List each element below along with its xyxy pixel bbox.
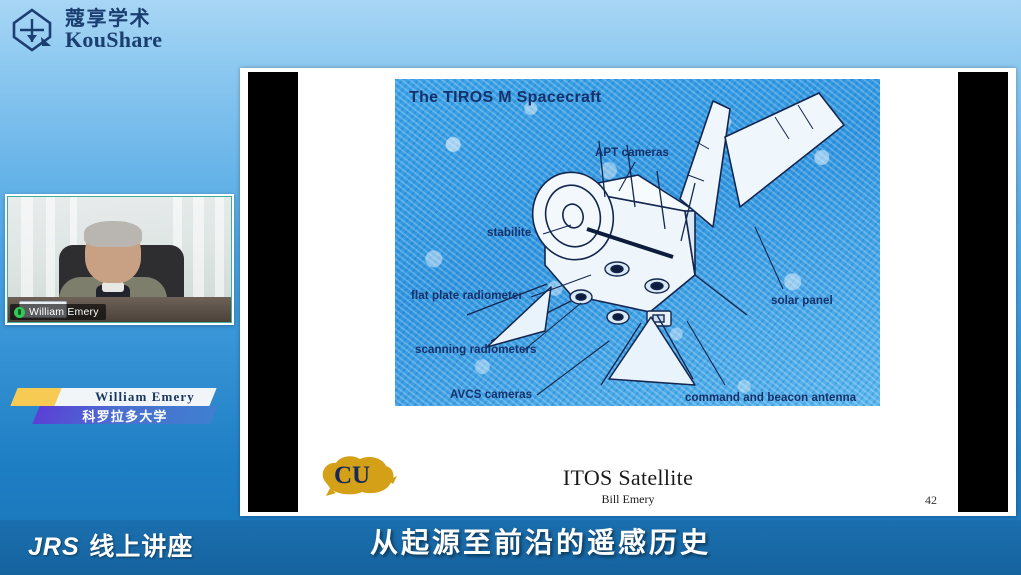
- speaker-affiliation-text: 科罗拉多大学: [36, 406, 214, 424]
- participant-name-label: William Emery: [10, 304, 106, 320]
- slide-page-number: 42: [925, 493, 937, 508]
- video-tile[interactable]: William Emery: [5, 194, 234, 325]
- slide-author: Bill Emery: [244, 492, 1012, 507]
- speaker-name-text: William Emery: [70, 388, 220, 406]
- tiros-spacecraft-diagram: The TIROS M Spacecraft APT cameras stabi…: [395, 79, 880, 406]
- label-flat-plate-radiometer: flat plate radiometer: [411, 290, 523, 302]
- brand-name-cn: 蔻享学术: [65, 8, 162, 28]
- brand-logo: 蔻享学术 KouShare: [8, 6, 162, 54]
- label-solar-panel: solar panel: [771, 295, 833, 307]
- speaker-collar: [102, 282, 124, 292]
- participant-name-text: William Emery: [29, 306, 99, 318]
- lecture-subtitle: 从起源至前沿的遥感历史: [0, 521, 1021, 561]
- diagram-title: The TIROS M Spacecraft: [409, 89, 601, 107]
- label-scanning-radiometers: scanning radiometers: [415, 344, 537, 356]
- microphone-icon: [14, 307, 25, 318]
- brand-name-en: KouShare: [65, 29, 162, 51]
- pillarbox-right: [958, 72, 1008, 512]
- koushare-diamond-logo: [8, 6, 56, 54]
- slide-title: ITOS Satellite: [244, 465, 1012, 491]
- pillarbox-left: [248, 72, 298, 512]
- video-feed: William Emery: [7, 196, 232, 323]
- speaker-name-banner: William Emery 科罗拉多大学: [14, 388, 210, 424]
- shared-slide-frame[interactable]: The TIROS M Spacecraft APT cameras stabi…: [240, 68, 1016, 516]
- label-apt-cameras: APT cameras: [595, 147, 669, 159]
- speaker-hair: [84, 221, 142, 247]
- brand-text: 蔻享学术 KouShare: [65, 8, 162, 52]
- spacecraft-linedrawing: [395, 79, 880, 406]
- label-avcs-cameras: AVCS cameras: [450, 389, 532, 401]
- label-stabilite: stabilite: [487, 227, 531, 239]
- slide-canvas: The TIROS M Spacecraft APT cameras stabi…: [244, 72, 1012, 512]
- label-command-beacon-antenna: command and beacon antenna: [685, 392, 856, 404]
